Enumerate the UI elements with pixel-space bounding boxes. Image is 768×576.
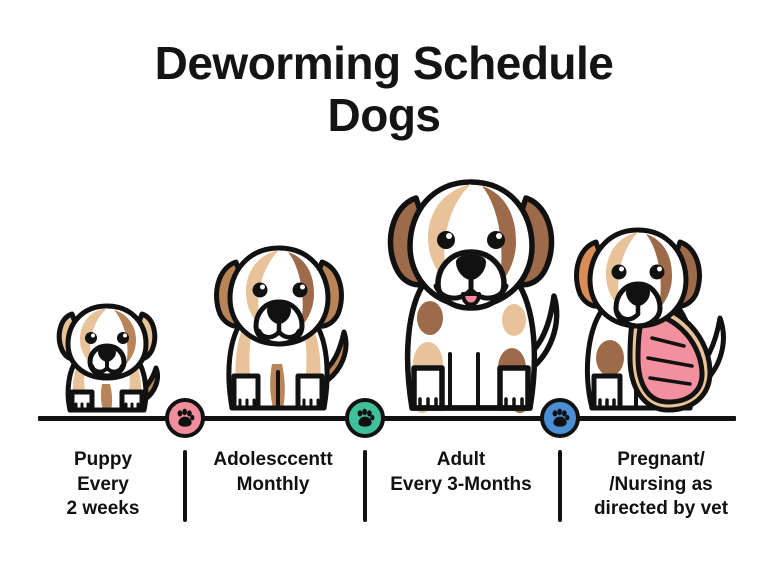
label-pregnant-nursing: Pregnant/ /Nursing as directed by vet: [568, 448, 754, 522]
dog-pregnant-nursing-icon: [566, 218, 738, 420]
title-line-1: Deworming Schedule: [0, 38, 768, 90]
label-adolescent-line-1: Adolesccentt: [190, 448, 356, 473]
timeline-axis: [38, 416, 736, 421]
dog-adult-icon: [378, 168, 564, 420]
paw-print-icon: [354, 407, 376, 429]
label-adolescent: Adolesccentt Monthly: [190, 448, 356, 497]
infographic-canvas: Deworming Schedule Dogs: [0, 0, 768, 576]
label-puppy: Puppy Every 2 weeks: [28, 448, 178, 522]
paw-print-icon: [174, 407, 196, 429]
paw-marker-1[interactable]: [165, 398, 205, 438]
dog-puppy-icon: [48, 288, 166, 420]
label-pregnant-line-2: /Nursing as: [568, 473, 754, 498]
page-title: Deworming Schedule Dogs: [0, 38, 768, 141]
label-puppy-line-1: Puppy: [28, 448, 178, 473]
dog-adolescent-icon: [206, 232, 352, 420]
paw-marker-2[interactable]: [345, 398, 385, 438]
divider-1: [183, 450, 187, 522]
label-adult: Adult Every 3-Months: [370, 448, 552, 497]
label-pregnant-line-3: directed by vet: [568, 497, 754, 522]
title-line-2: Dogs: [0, 90, 768, 142]
divider-2: [363, 450, 367, 522]
paw-marker-3[interactable]: [540, 398, 580, 438]
label-adult-line-1: Adult: [370, 448, 552, 473]
label-adult-line-2: Every 3-Months: [370, 473, 552, 498]
label-pregnant-line-1: Pregnant/: [568, 448, 754, 473]
label-adolescent-line-2: Monthly: [190, 473, 356, 498]
label-puppy-line-2: Every: [28, 473, 178, 498]
label-puppy-line-3: 2 weeks: [28, 497, 178, 522]
paw-print-icon: [549, 407, 571, 429]
divider-3: [558, 450, 562, 522]
